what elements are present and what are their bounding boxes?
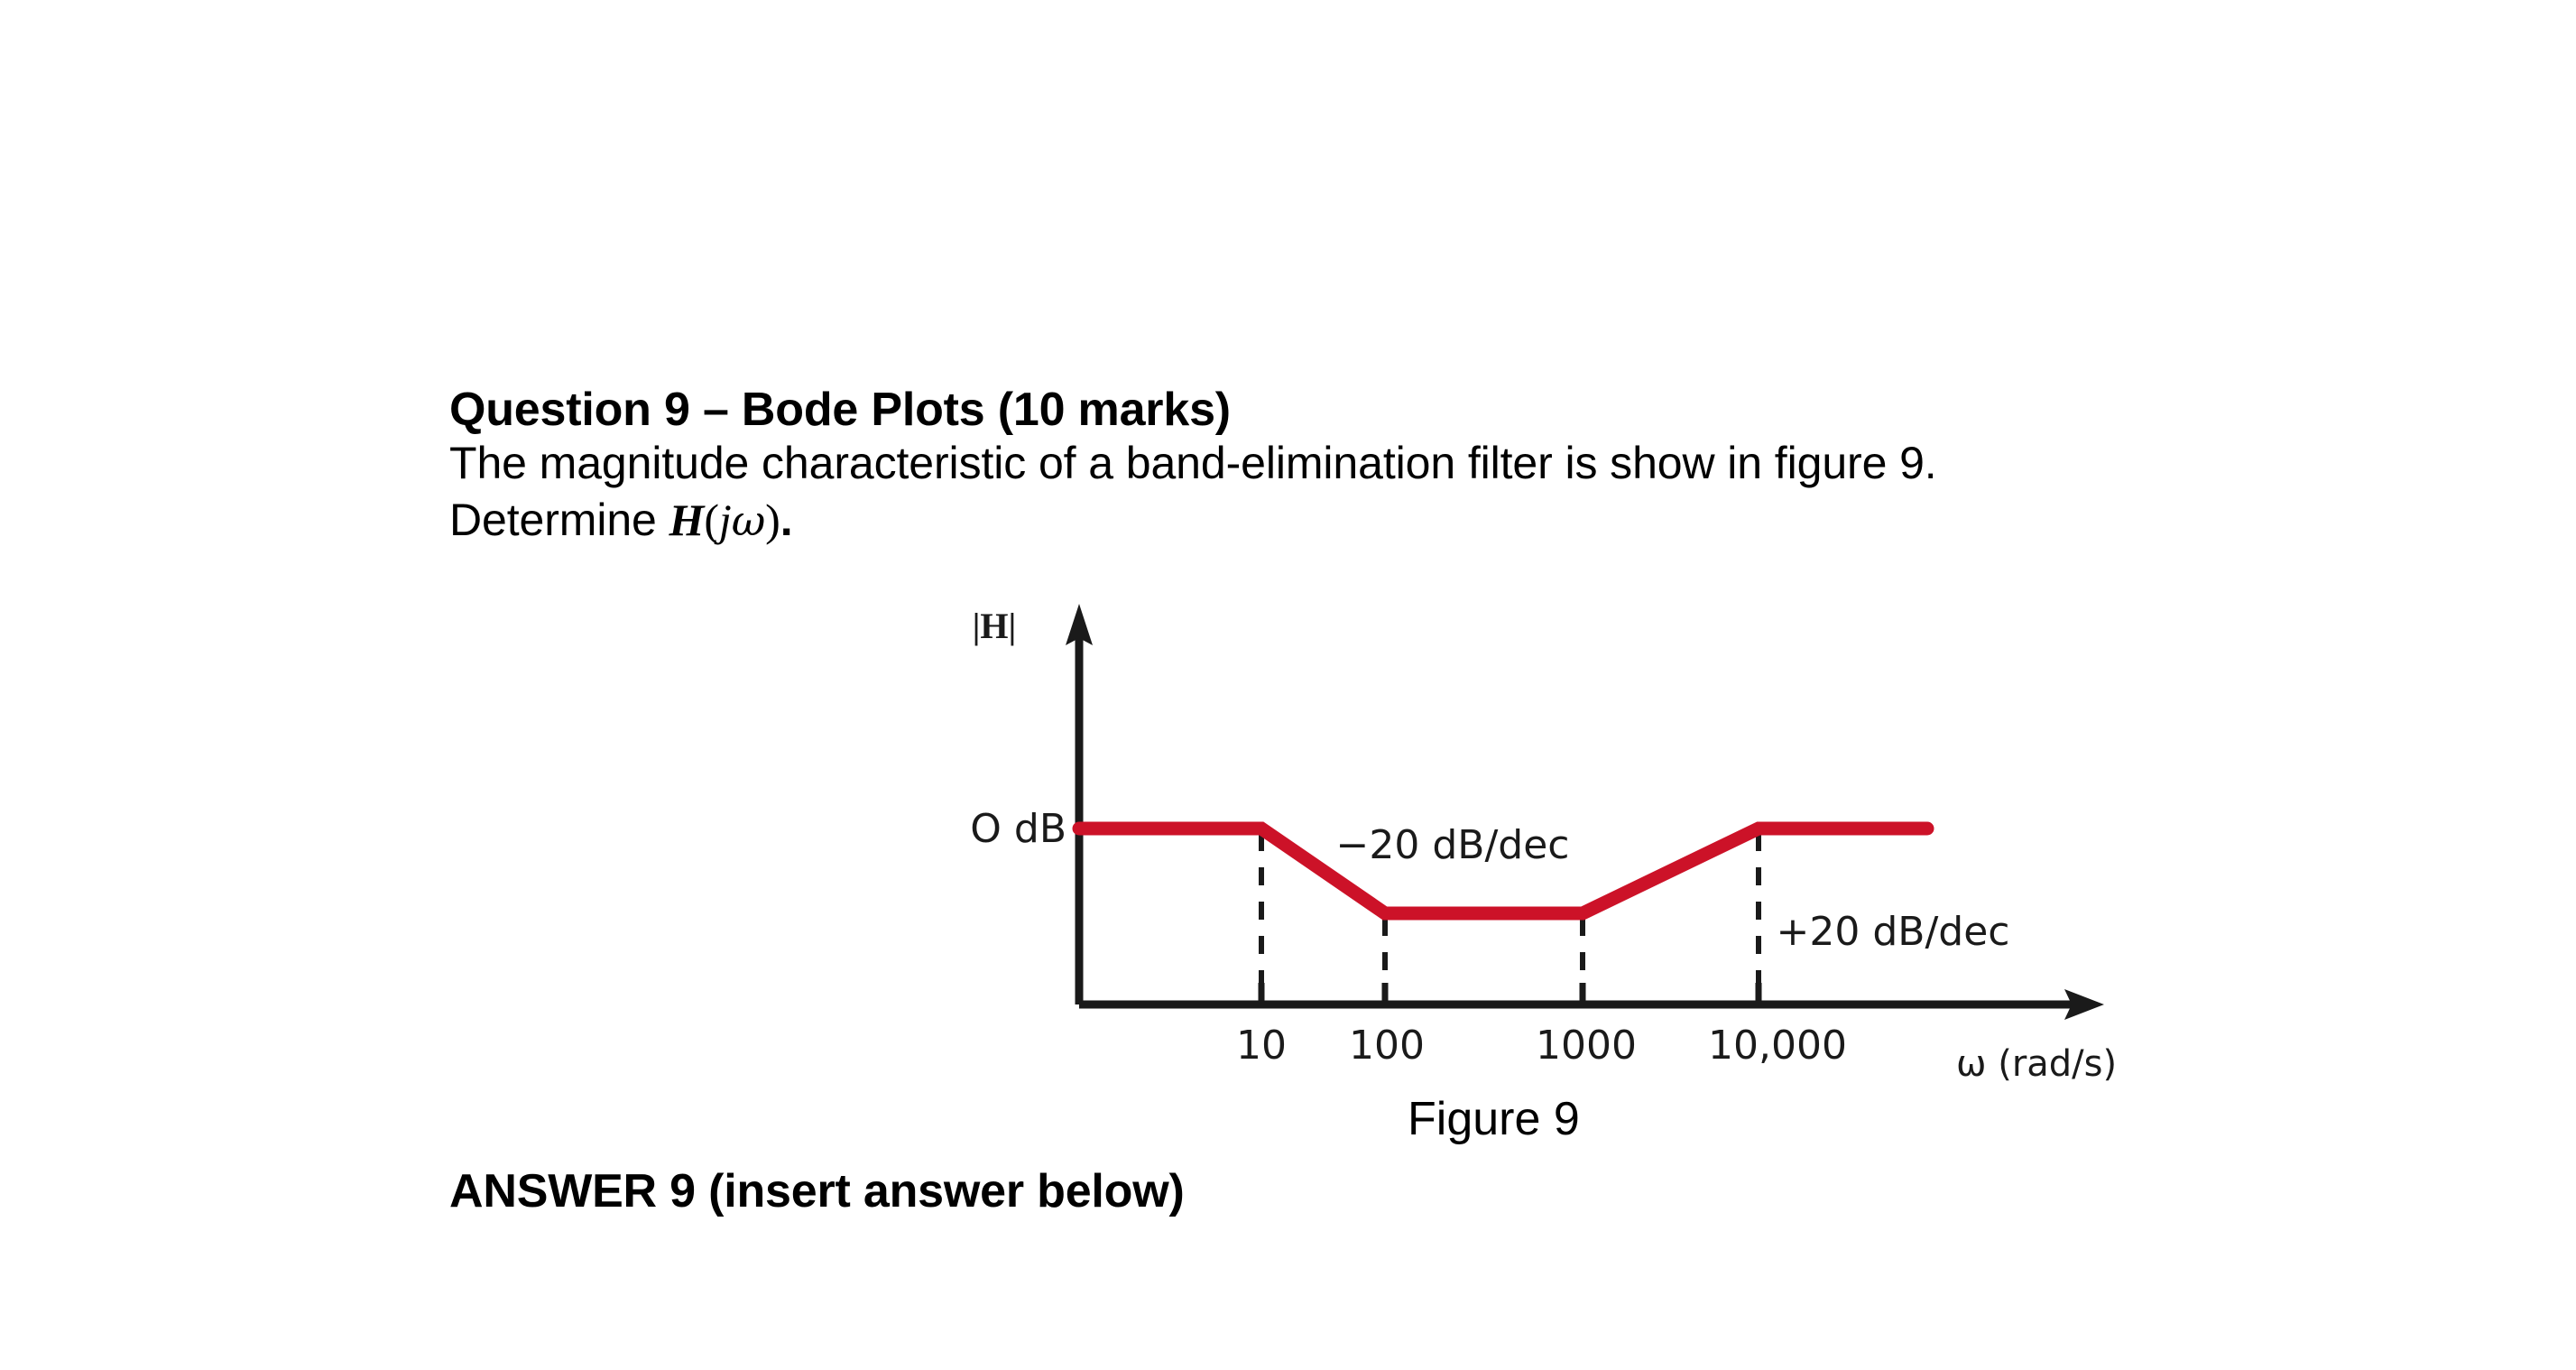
question-body-line-1: The magnitude characteristic of a band-e… <box>449 437 2479 490</box>
zero-db-label: O dB <box>970 806 1066 852</box>
answer-prompt: ANSWER 9 (insert answer below) <box>449 1164 1185 1218</box>
figure-caption: Figure 9 <box>1408 1092 1580 1146</box>
question-heading: Question 9 – Bode Plots (10 marks) <box>449 383 2479 437</box>
formula-h: H <box>669 495 705 545</box>
slope-down-annotation: −20 dB/dec <box>1336 822 1570 868</box>
question-body-line-2: Determine H(jω). <box>449 494 2479 547</box>
formula-close-paren: ) <box>765 495 780 545</box>
slope-up-annotation: +20 dB/dec <box>1777 909 2010 955</box>
x-tick-label-10000: 10,000 <box>1708 1023 1847 1069</box>
x-tick-label-10: 10 <box>1236 1023 1287 1069</box>
x-tick-label-100: 100 <box>1349 1023 1425 1069</box>
x-axis-label: ω (rad/s) <box>1956 1043 2117 1085</box>
x-tick-label-1000: 1000 <box>1536 1023 1637 1069</box>
determine-prefix: Determine <box>449 495 669 545</box>
bode-plot-figure: |H| O dB −20 dB/dec +20 dB/dec 10 100 10… <box>938 591 2147 1097</box>
formula-j: j <box>719 495 732 545</box>
formula-omega: ω <box>732 496 765 545</box>
formula-period: . <box>780 495 793 545</box>
formula-open-paren: ( <box>704 495 719 545</box>
question-block: Question 9 – Bode Plots (10 marks) The m… <box>449 383 2479 547</box>
y-axis-label: |H| <box>973 606 1017 646</box>
